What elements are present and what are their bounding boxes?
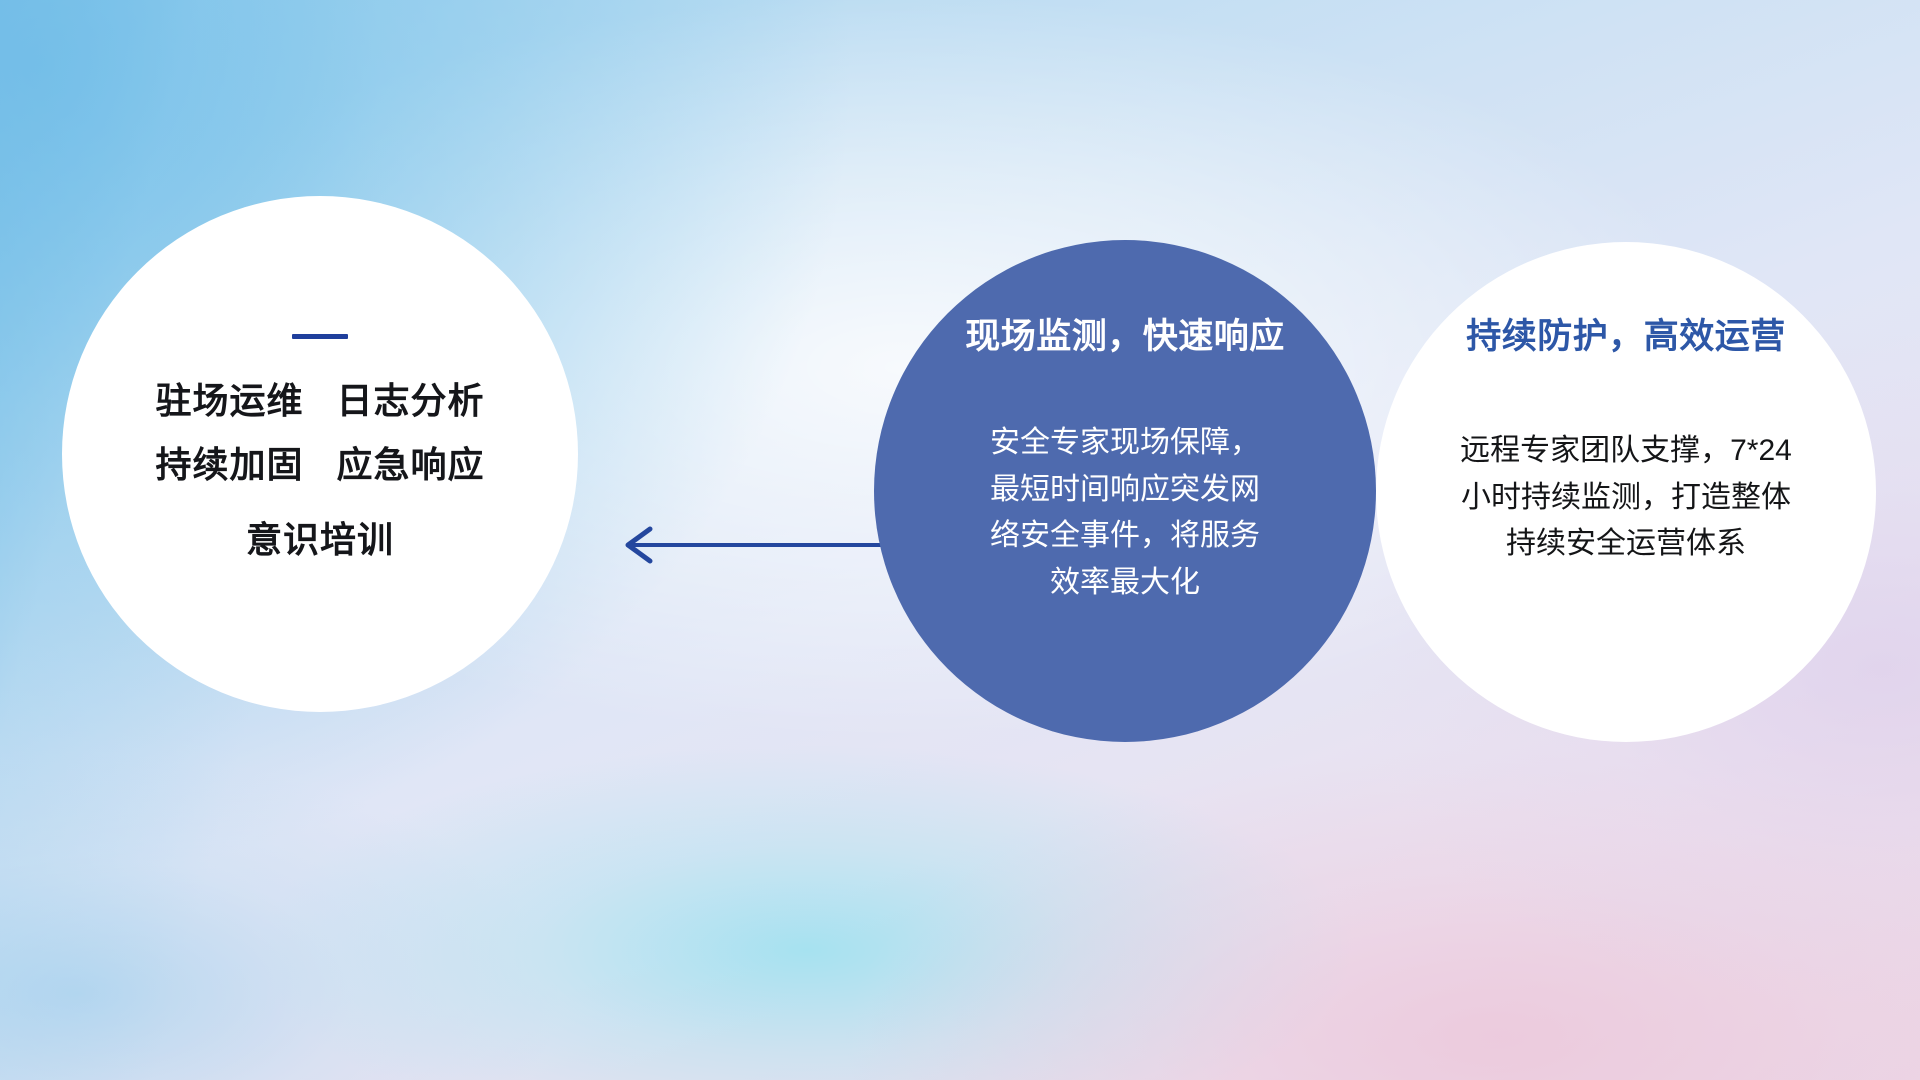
slide-canvas: 驻场运维 日志分析 持续加固 应急响应 意识培训 现场监测，快速响应 安全专家现… xyxy=(0,0,1920,1080)
arrow-container xyxy=(608,516,908,574)
blue-dash-divider-icon xyxy=(292,334,348,339)
left-circle-line-3: 意识培训 xyxy=(246,520,394,560)
left-circle-text-group: 驻场运维 日志分析 持续加固 应急响应 意识培训 xyxy=(155,381,484,560)
right-operations-circle[interactable] xyxy=(1376,242,1876,742)
left-pointing-arrow-icon xyxy=(608,516,908,574)
left-circle-line-1: 驻场运维 日志分析 xyxy=(155,381,484,421)
left-service-circle[interactable]: 驻场运维 日志分析 持续加固 应急响应 意识培训 xyxy=(62,196,578,712)
left-circle-line-2: 持续加固 应急响应 xyxy=(155,445,484,485)
middle-onsite-circle[interactable] xyxy=(874,240,1376,742)
